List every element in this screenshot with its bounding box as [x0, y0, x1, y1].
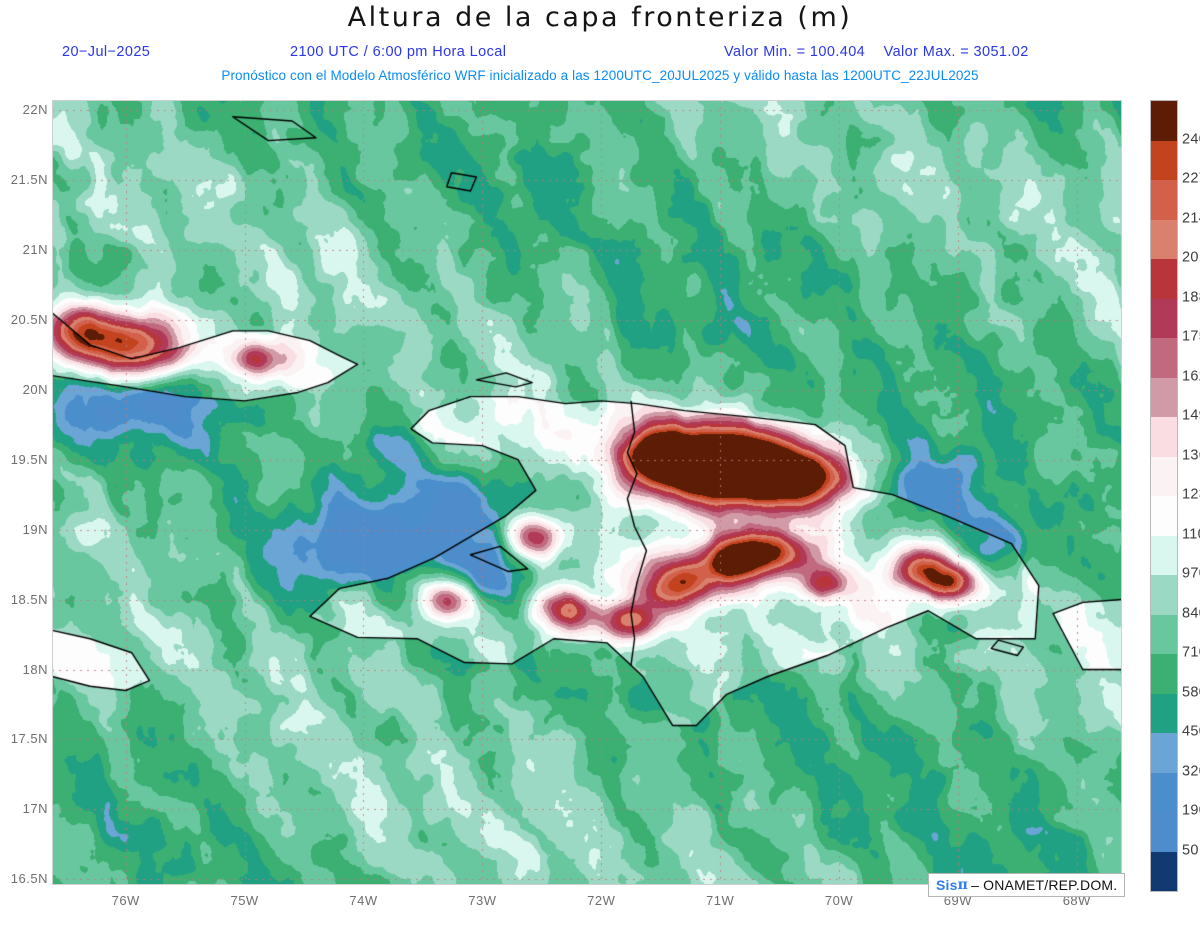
model-note: Pronóstico con el Modelo Atmosférico WRF… — [0, 68, 1200, 83]
colorbar — [1150, 100, 1178, 892]
y-axis-label: 22N — [0, 102, 48, 117]
value-max: Valor Max. = 3051.02 — [884, 44, 1029, 60]
colorbar-swatch — [1151, 180, 1177, 220]
colorbar-tick-label: 840 — [1182, 605, 1200, 621]
logo-sis-text: Sis — [936, 877, 958, 893]
colorbar-tick-label: 190 — [1182, 803, 1200, 819]
colorbar-swatch — [1151, 220, 1177, 260]
forecast-date: 20−Jul−2025 — [62, 44, 150, 60]
colorbar-swatch — [1151, 259, 1177, 299]
colorbar-tick-label: 580 — [1182, 684, 1200, 700]
x-axis-label: 70W — [825, 893, 853, 908]
colorbar-tick-label: 2010 — [1182, 250, 1200, 266]
colorbar-swatch — [1151, 536, 1177, 576]
x-axis-label: 71W — [706, 893, 734, 908]
colorbar-swatch — [1151, 141, 1177, 181]
value-range: Valor Min. = 100.404 Valor Max. = 3051.0… — [724, 44, 1043, 60]
colorbar-swatch — [1151, 733, 1177, 773]
y-axis-label: 21N — [0, 242, 48, 257]
logo-org-text: – ONAMET/REP.DOM. — [971, 877, 1117, 893]
colorbar-swatch — [1151, 615, 1177, 655]
colorbar-tick-label: 1360 — [1182, 447, 1200, 463]
x-axis-label: 76W — [112, 893, 140, 908]
colorbar-tick-label: 1100 — [1182, 526, 1200, 542]
x-axis-label: 73W — [468, 893, 496, 908]
logo-pi-icon: π — [958, 877, 968, 893]
colorbar-tick-label: 450 — [1182, 724, 1200, 740]
x-axis-label: 75W — [230, 893, 258, 908]
colorbar-tick-label: 1620 — [1182, 368, 1200, 384]
colorbar-tick-label: 2400 — [1182, 131, 1200, 147]
y-axis-label: 16.5N — [0, 871, 48, 886]
colorbar-tick-label: 710 — [1182, 645, 1200, 661]
colorbar-swatch — [1151, 575, 1177, 615]
y-axis-label: 19N — [0, 522, 48, 537]
colorbar-tick-label: 1490 — [1182, 408, 1200, 424]
colorbar-tick-label: 1750 — [1182, 329, 1200, 345]
colorbar-swatch — [1151, 694, 1177, 734]
colorbar-swatch — [1151, 812, 1177, 852]
y-axis-label: 21.5N — [0, 172, 48, 187]
colorbar-swatch — [1151, 852, 1177, 892]
page-title: Altura de la capa fronteriza (m) — [0, 2, 1200, 33]
contour-field-canvas — [52, 100, 1122, 885]
colorbar-swatch — [1151, 378, 1177, 418]
x-axis-label: 72W — [587, 893, 615, 908]
colorbar-swatch — [1151, 773, 1177, 813]
colorbar-tick-label: 2270 — [1182, 171, 1200, 187]
colorbar-swatch — [1151, 101, 1177, 141]
y-axis-label: 19.5N — [0, 452, 48, 467]
colorbar-swatch — [1151, 496, 1177, 536]
map-plot-area — [52, 100, 1122, 885]
y-axis-label: 17N — [0, 801, 48, 816]
colorbar-swatch — [1151, 299, 1177, 339]
y-axis-label: 18.5N — [0, 592, 48, 607]
y-axis-label: 18N — [0, 662, 48, 677]
x-axis-label: 74W — [349, 893, 377, 908]
header: Altura de la capa fronteriza (m) 20−Jul−… — [0, 0, 1200, 95]
colorbar-swatch — [1151, 654, 1177, 694]
value-min: Valor Min. = 100.404 — [724, 44, 865, 60]
y-axis-ticks: 22N21.5N21N20.5N20N19.5N19N18.5N18N17.5N… — [0, 0, 52, 927]
colorbar-tick-label: 320 — [1182, 763, 1200, 779]
y-axis-label: 20N — [0, 382, 48, 397]
colorbar-swatch — [1151, 457, 1177, 497]
colorbar-tick-label: 2140 — [1182, 210, 1200, 226]
y-axis-label: 17.5N — [0, 731, 48, 746]
colorbar-tick-label: 1880 — [1182, 289, 1200, 305]
colorbar-tick-label: 970 — [1182, 566, 1200, 582]
forecast-time: 2100 UTC / 6:00 pm Hora Local — [290, 44, 506, 60]
attribution-badge: Sisπ – ONAMET/REP.DOM. — [928, 873, 1125, 897]
colorbar-tick-label: 50 — [1182, 842, 1199, 858]
colorbar-tick-label: 1230 — [1182, 487, 1200, 503]
colorbar-swatch — [1151, 417, 1177, 457]
colorbar-swatch — [1151, 338, 1177, 378]
y-axis-label: 20.5N — [0, 312, 48, 327]
